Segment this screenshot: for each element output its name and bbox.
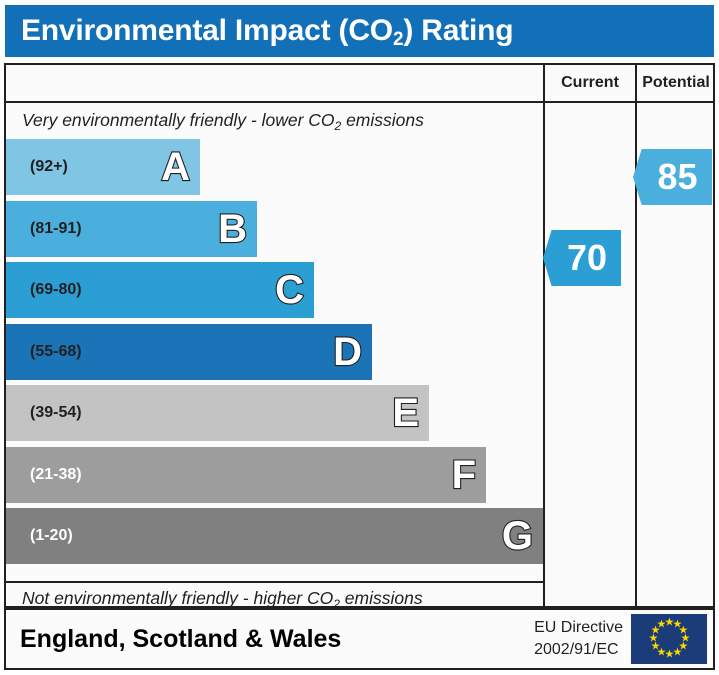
caption-bottom-prefix: Not environmentally friendly - higher CO	[22, 588, 333, 608]
footer-directive-group: EU Directive 2002/91/EC ★★★★★★★★★★★★	[534, 614, 707, 664]
band-range-label: (21-38)	[6, 466, 82, 484]
band-row: (69-80) C	[6, 262, 314, 318]
band-letter: E	[392, 393, 419, 433]
band-range-label: (92+)	[6, 158, 68, 176]
potential-rating-badge: 85	[633, 149, 712, 205]
bottom-caption-divider	[6, 581, 543, 583]
header-divider	[6, 101, 713, 103]
eu-star-icon: ★	[657, 621, 666, 630]
page-title-suffix: ) Rating	[403, 14, 513, 47]
current-column-divider	[543, 65, 545, 606]
column-header-potential: Potential	[637, 65, 715, 101]
band-letter: F	[452, 455, 476, 495]
footer-bar: England, Scotland & Wales EU Directive 2…	[4, 608, 715, 670]
potential-rating-value: 85	[657, 156, 697, 198]
caption-top: Very environmentally friendly - lower CO…	[22, 110, 424, 131]
rating-bands: (92+) A (81-91) B (69-80) C (55-68) D (3…	[6, 139, 543, 579]
band-row: (81-91) B	[6, 201, 257, 257]
epc-environmental-impact-certificate: Environmental Impact (CO2) Rating Curren…	[0, 0, 719, 675]
column-header-current: Current	[545, 65, 635, 101]
caption-top-suffix: emissions	[341, 110, 424, 130]
eu-directive-line1: EU Directive	[534, 617, 623, 639]
caption-bottom-suffix: emissions	[340, 588, 423, 608]
eu-directive-line2: 2002/91/EC	[534, 639, 623, 661]
band-letter: A	[161, 147, 190, 187]
band-row: (55-68) D	[6, 324, 372, 380]
page-title-subscript: 2	[393, 29, 403, 50]
region-label: England, Scotland & Wales	[6, 625, 341, 654]
current-rating-value: 70	[567, 237, 607, 279]
band-row: (92+) A	[6, 139, 200, 195]
caption-bottom: Not environmentally friendly - higher CO…	[22, 588, 423, 609]
page-title: Environmental Impact (CO2) Rating	[5, 14, 513, 48]
band-letter: C	[275, 270, 304, 310]
band-range-label: (39-54)	[6, 404, 82, 422]
caption-top-prefix: Very environmentally friendly - lower CO	[22, 110, 335, 130]
band-letter: D	[333, 332, 362, 372]
potential-column-divider	[635, 65, 637, 606]
band-letter: G	[502, 516, 533, 556]
eu-directive-text: EU Directive 2002/91/EC	[534, 617, 623, 660]
current-rating-badge: 70	[543, 230, 621, 286]
band-range-label: (69-80)	[6, 281, 82, 299]
rating-table: Current Potential Very environmentally f…	[4, 63, 715, 608]
caption-top-subscript: 2	[335, 119, 342, 133]
band-row: (39-54) E	[6, 385, 429, 441]
eu-flag-icon: ★★★★★★★★★★★★	[631, 614, 707, 664]
band-range-label: (1-20)	[6, 527, 73, 545]
band-range-label: (81-91)	[6, 220, 82, 238]
page-title-prefix: Environmental Impact (CO	[21, 14, 393, 47]
band-range-label: (55-68)	[6, 343, 82, 361]
band-letter: B	[218, 209, 247, 249]
title-bar: Environmental Impact (CO2) Rating	[5, 5, 714, 57]
band-row: (21-38) F	[6, 447, 486, 503]
band-row: (1-20) G	[6, 508, 543, 564]
